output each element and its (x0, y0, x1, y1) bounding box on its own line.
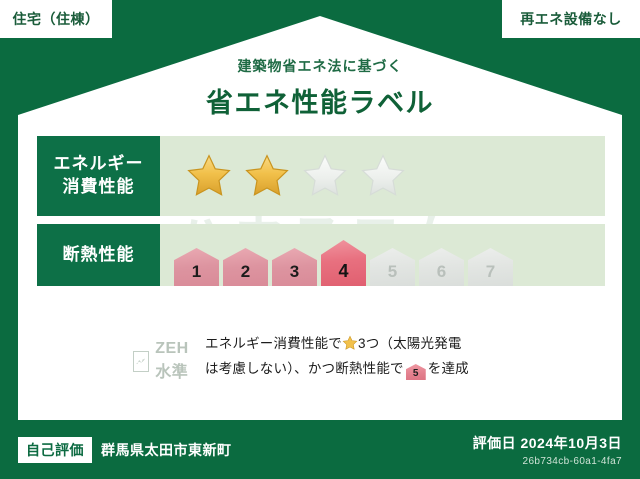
energy-label-line2: 消費性能 (63, 176, 135, 199)
title-subtitle: 建築物省エネ法に基づく (0, 56, 640, 76)
footer-right: 評価日 2024年10月3日 26b734cb-60a1-4fa7 (473, 433, 622, 467)
rating-table: エネルギー 消費性能 (37, 136, 605, 286)
evaluation-date: 評価日 2024年10月3日 (473, 433, 622, 453)
renewable-energy-tag: 再エネ設備なし (502, 0, 640, 38)
row-divider (37, 216, 605, 224)
inline-star-icon (342, 335, 358, 351)
energy-performance-value (160, 136, 605, 216)
footer: 自己評価 群馬県太田市東新町 評価日 2024年10月3日 26b734cb-6… (0, 421, 640, 479)
grade-badge-4-current: 4 (321, 240, 366, 286)
insulation-performance-value: 1 2 3 4 5 6 7 (160, 224, 605, 286)
grade-badge-2: 2 (223, 248, 268, 286)
energy-performance-label: エネルギー 消費性能 (37, 136, 160, 216)
page-title: 建築物省エネ法に基づく 省エネ性能ラベル (0, 56, 640, 120)
grade-badge-1: 1 (174, 248, 219, 286)
zeh-description: エネルギー消費性能で3つ（太陽光発電 は考慮しない）、かつ断熱性能で5を達成 (205, 332, 605, 382)
grade-badge-3: 3 (272, 248, 317, 286)
zeh-badge: ZEH水準 (37, 332, 205, 382)
star-icon-filled (242, 152, 292, 200)
footer-left: 自己評価 群馬県太田市東新町 (18, 437, 232, 463)
energy-performance-label: 住宅（住棟） 再エネ設備なし ハウスコム 建築物省エネ法に基づく 省エネ性能ラベ… (0, 0, 640, 479)
insulation-performance-row: 断熱性能 1 2 3 4 5 6 7 (37, 224, 605, 286)
evaluation-type-badge: 自己評価 (18, 437, 92, 463)
zeh-mark-icon (133, 351, 149, 372)
energy-performance-row: エネルギー 消費性能 (37, 136, 605, 216)
grade-scale: 1 2 3 4 5 6 7 (160, 224, 513, 286)
star-icon-empty (300, 152, 350, 200)
grade-badge-7: 7 (468, 248, 513, 286)
grade-badge-5: 5 (370, 248, 415, 286)
inline-grade-badge: 5 (406, 364, 426, 380)
grade-badge-6: 6 (419, 248, 464, 286)
zeh-desc-line1-b: 3つ（太陽光発電 (358, 336, 462, 351)
evaluation-id: 26b734cb-60a1-4fa7 (473, 456, 622, 467)
zeh-section: ZEH水準 エネルギー消費性能で3つ（太陽光発電 は考慮しない）、かつ断熱性能で… (37, 332, 605, 382)
zeh-label: ZEH水準 (155, 340, 205, 382)
building-type-tag: 住宅（住棟） (0, 0, 112, 38)
zeh-desc-line2-b: を達成 (428, 361, 469, 376)
star-icon-empty (358, 152, 408, 200)
title-main: 省エネ性能ラベル (0, 81, 640, 120)
star-rating (160, 152, 408, 200)
star-icon-filled (184, 152, 234, 200)
property-address: 群馬県太田市東新町 (101, 440, 232, 460)
energy-label-line1: エネルギー (54, 153, 144, 176)
insulation-performance-label: 断熱性能 (37, 224, 160, 286)
zeh-desc-line2-a: は考慮しない）、かつ断熱性能で (205, 361, 404, 376)
zeh-desc-line1-a: エネルギー消費性能で (205, 336, 342, 351)
